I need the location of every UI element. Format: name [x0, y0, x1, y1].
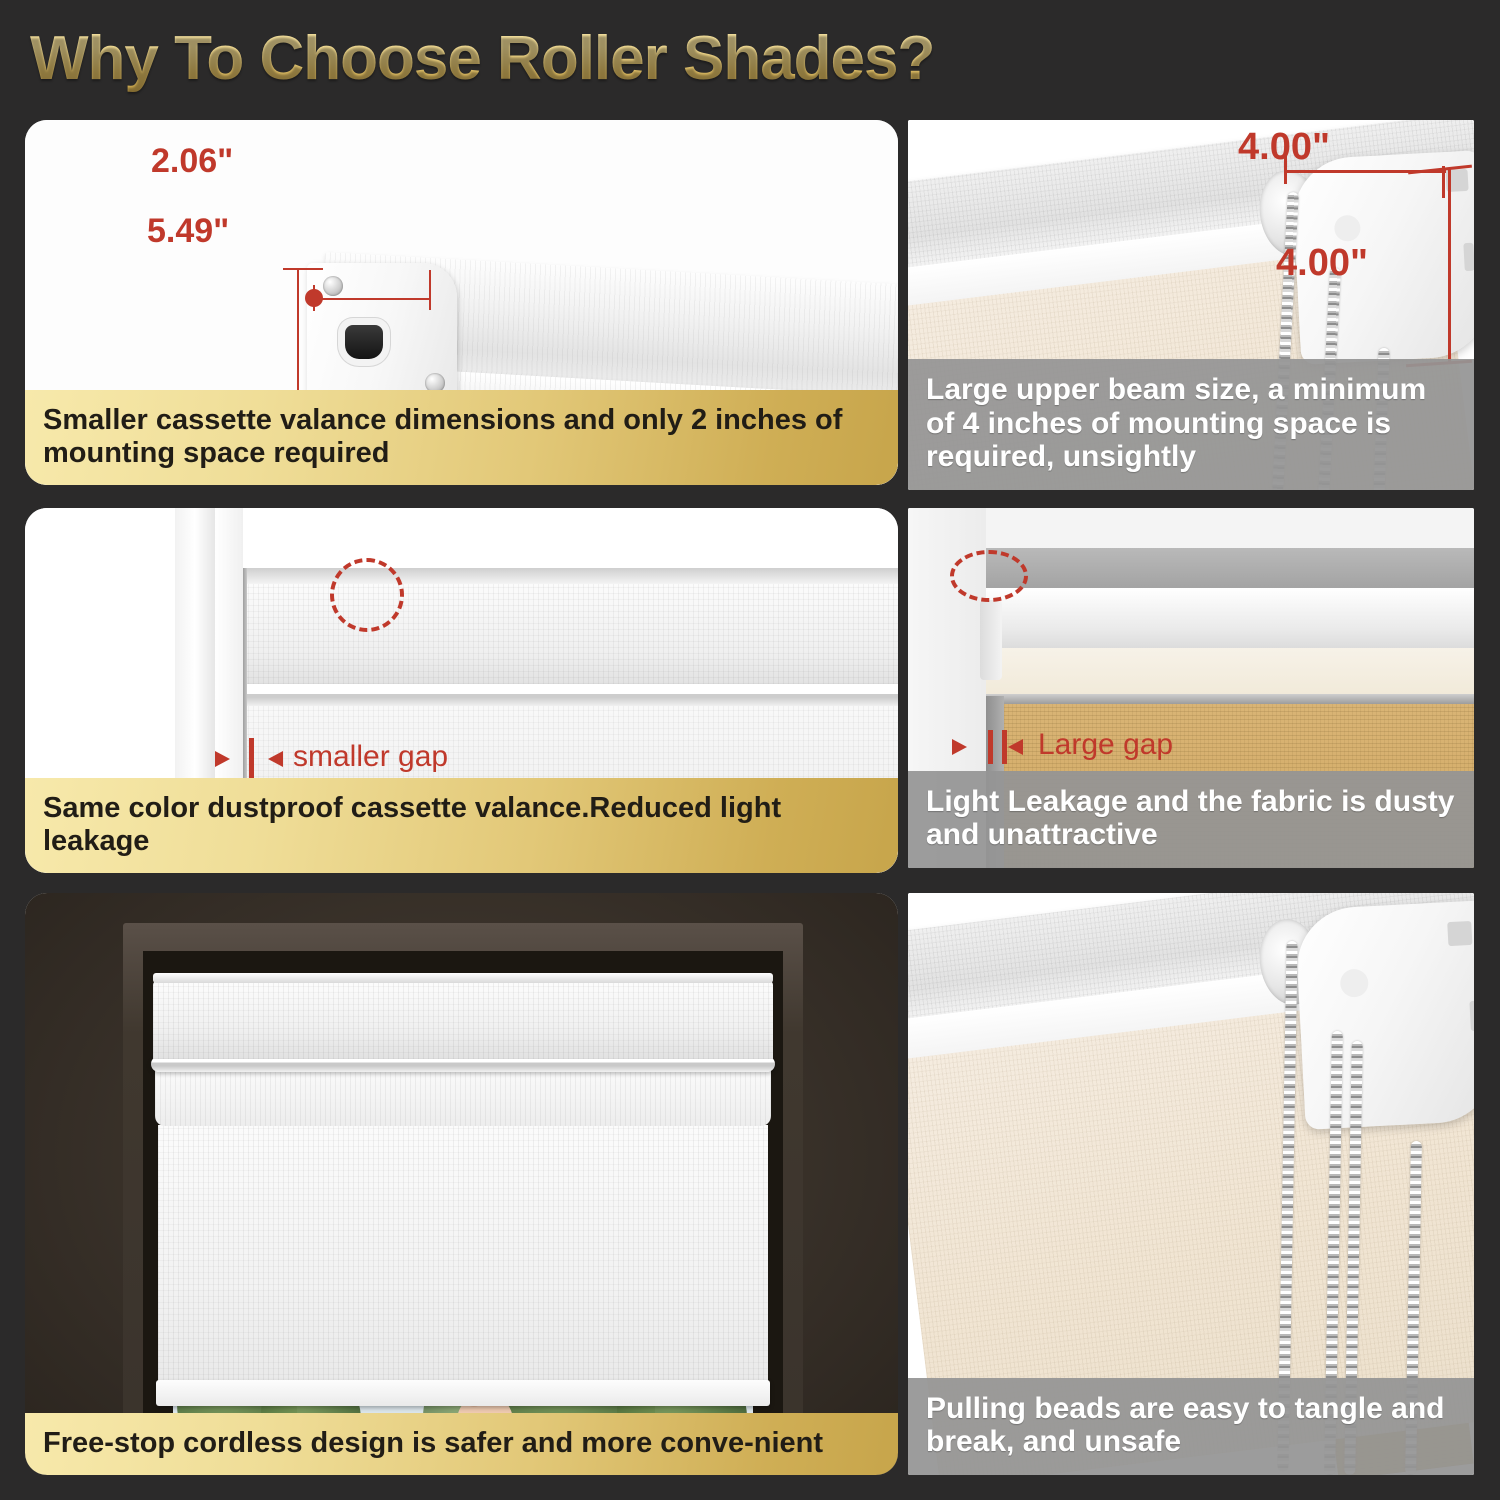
- height-dim-label: 4.00": [1276, 242, 1368, 285]
- mounting-bracket: [1294, 900, 1474, 1130]
- panel-middle-left: smaller gap Same color dustproof cassett…: [25, 508, 898, 873]
- gap-label: Large gap: [1038, 728, 1173, 762]
- panel-top-right: 4.00" 4.00" Large upper beam size, a min…: [908, 120, 1474, 490]
- panel-bottom-right: Pulling beads are easy to tangle and bre…: [908, 893, 1474, 1475]
- gap-label: smaller gap: [293, 740, 448, 774]
- panel-bottom-left-image: [25, 893, 898, 1475]
- arrow-left-icon: [1008, 739, 1023, 755]
- arrow-right-icon: [215, 751, 230, 767]
- caption-middle-right: Light Leakage and the fabric is dusty an…: [908, 771, 1474, 868]
- width-dim-label: 4.00": [1238, 126, 1330, 169]
- caption-middle-left: Same color dustproof cassette valance.Re…: [25, 778, 898, 873]
- panel-bottom-left: Free-stop cordless design is safer and m…: [25, 893, 898, 1475]
- panel-middle-right: Large gap Light Leakage and the fabric i…: [908, 508, 1474, 868]
- arrow-right-icon: [952, 739, 967, 755]
- caption-bottom-right: Pulling beads are easy to tangle and bre…: [908, 1378, 1474, 1475]
- page-title: Why To Choose Roller Shades?: [30, 23, 934, 94]
- caption-top-right: Large upper beam size, a minimum of 4 in…: [908, 359, 1474, 490]
- caption-top-left: Smaller cassette valance dimensions and …: [25, 390, 898, 485]
- caption-bottom-left: Free-stop cordless design is safer and m…: [25, 1413, 898, 1475]
- cassette-slot-icon: [345, 325, 383, 359]
- arrow-left-icon: [268, 751, 283, 767]
- width-dim-label: 2.06": [151, 142, 233, 181]
- highlight-circle-icon: [330, 558, 404, 632]
- height-dim-line: [1448, 168, 1451, 364]
- gap-marker: [249, 738, 254, 780]
- height-dim-label: 5.49": [147, 212, 229, 251]
- highlight-circle-icon: [950, 550, 1028, 602]
- width-dim-line: [313, 298, 431, 300]
- panel-top-left: 2.06" 5.49" Smaller cassette valance dim…: [25, 120, 898, 485]
- page-header: Why To Choose Roller Shades?: [30, 18, 1130, 98]
